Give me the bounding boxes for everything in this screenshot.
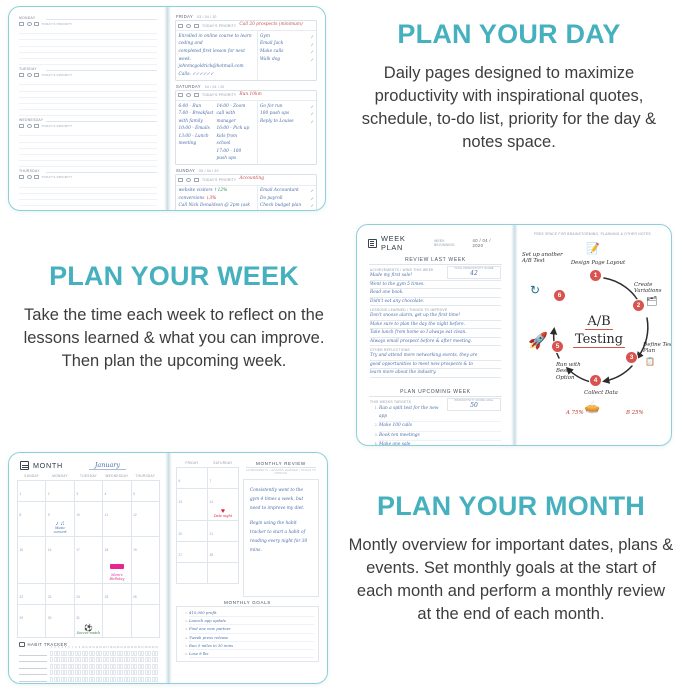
daily-date-slot[interactable] (46, 17, 157, 20)
weekday-header: TUESDAY (74, 473, 102, 481)
calendar-cell[interactable]: 3 (74, 481, 102, 502)
daily-priority-label: TODAY'S PRIORITY (202, 178, 236, 182)
daily-day-block: MONDAY TODAY'S PRIORITY (19, 14, 157, 65)
daily-entry-header: SATURDAY 04 / 04 / 20 (175, 84, 317, 90)
daily-priority-value: Accounting (239, 176, 264, 183)
daily-planner-spread: MONDAY TODAY'S PRIORITY TUESDAY (8, 6, 326, 211)
calendar-cell[interactable]: 23 (46, 583, 74, 604)
productivity-score-box[interactable]: TOTAL PRODUCTIVITY SCORE 42 (447, 266, 501, 279)
calendar-cell[interactable]: 27 (177, 541, 208, 562)
review-paragraph: Begin using the habit tracker to start a… (250, 519, 312, 555)
check-icon: ✓ (311, 104, 314, 109)
calendar-cell[interactable] (207, 562, 238, 583)
moon-icon (186, 24, 191, 28)
daily-writing-lines[interactable] (19, 130, 157, 167)
week-targets-list[interactable]: Run a split test for the new app Make 10… (370, 405, 501, 445)
goal-item: Launch app update (189, 617, 314, 625)
calendar-week-row: 6 7 (177, 468, 239, 489)
schedule-item: 7:00 - Breakfast with family (179, 110, 214, 125)
daily-entry-date: 03 / 04 / 20 (197, 15, 217, 19)
bed-icon (19, 175, 24, 179)
daily-day-label: MONDAY (19, 16, 43, 20)
pie-label-b: B 25% (626, 410, 644, 416)
calendar-cell[interactable]: 4 (103, 481, 131, 502)
calendar-week-row: 15 16 17 18 Mom's Birthday 19 (18, 536, 160, 583)
daily-todo-list[interactable]: Email Accountant✓ Do payroll✓ Check budg… (258, 186, 316, 210)
month-calendar-grid-right[interactable]: FRIDAY SATURDAY 6 7 13 (176, 460, 239, 584)
goal-item: Lose 8 lbs (189, 650, 314, 658)
monthly-goals-list: $10,000 profit Launch app update Find on… (181, 609, 314, 658)
daily-priority-label: TODAY'S PRIORITY (42, 124, 73, 128)
calendar-week-row: 20 21 (177, 520, 239, 541)
weekday-header: THURSDAY (131, 473, 159, 481)
achievement-line: Read one book. (370, 289, 501, 298)
daily-entry-saturday: TODAY'S PRIORITY Run 10km 6:00 - Run 7:0… (175, 90, 317, 166)
week-date: 40 / 04 / 2020 (473, 238, 503, 248)
checklist-icon: 📋 (645, 358, 655, 366)
goal-item: $10,000 profit (189, 609, 314, 617)
check-icon: ✓ (311, 34, 314, 39)
water-icon (34, 22, 39, 26)
calendar-cell[interactable]: 30 (46, 604, 74, 637)
habit-cells (50, 664, 158, 669)
calendar-cell[interactable]: 21 (207, 520, 238, 541)
week-review-body: TOTAL PRODUCTIVITY SCORE 42 ACHIEVEMENTS… (365, 268, 506, 381)
habit-row[interactable] (19, 670, 158, 675)
moon-icon (27, 73, 32, 77)
moon-icon (186, 178, 191, 182)
habit-name-field[interactable] (19, 657, 47, 662)
schedule-item: 10:00 - Emails (179, 125, 214, 133)
daily-calls-row: Calls: ✓✓✓✓✓✓ (179, 71, 255, 79)
schedule-item: 6:00 - Run (179, 103, 214, 111)
daily-note-line: johnmcgoldrick@hotmail.com (179, 63, 255, 71)
daily-icon-row: TODAY'S PRIORITY (19, 174, 157, 181)
month-name-value: January (89, 461, 126, 470)
daily-entry-date: 05 / 04 / 20 (199, 169, 219, 173)
node-3: 3 (626, 352, 637, 363)
daily-todo-list[interactable]: Gym✓ Email Jack✓ Make calls✓ Walk dog✓ (258, 31, 316, 79)
monthly-review-subtitle: ACHIEVEMENTS / LESSONS LEARNED / THINGS … (243, 469, 319, 475)
metric-row: website visitors ↑12% (179, 187, 255, 195)
score-goal-box[interactable]: PRODUCTIVITY SCORE GOAL 50 (447, 398, 501, 411)
calendar-cell[interactable]: 11 (103, 502, 131, 537)
calendar-cell[interactable]: 20 (177, 520, 208, 541)
schedule-item: 17:00 - 100 push ups (217, 148, 252, 163)
calendar-cell[interactable]: 31 ⚽ Soccer match (74, 604, 102, 637)
gift-icon (110, 564, 124, 569)
check-icon: ✓ (311, 203, 314, 208)
calendar-week-row: 29 30 31 ⚽ Soccer match (18, 604, 160, 637)
daily-date-slot[interactable] (46, 119, 157, 122)
todo-item: Go for run (260, 103, 283, 111)
habit-name-field[interactable] (19, 664, 47, 669)
water-icon (194, 178, 199, 182)
calendar-cell[interactable]: 9 ♪ ♫ Music concert (46, 502, 74, 537)
node-5: 5 (552, 341, 563, 352)
habit-row[interactable] (19, 657, 158, 662)
monthly-review-title: MONTHLY REVIEW (246, 461, 316, 468)
calendar-cell[interactable]: 18 Mom's Birthday (103, 536, 131, 583)
node-label-6: Set up another A/B Test (522, 252, 570, 265)
calendar-cell[interactable]: 19 (131, 536, 159, 583)
month-calendar-grid[interactable]: SUNDAY MONDAY TUESDAY WEDNESDAY THURSDAY… (17, 473, 160, 638)
document-pen-icon: 📝 (586, 244, 600, 255)
habit-row[interactable] (19, 651, 158, 656)
free-space-label: FREE SPACE FOR BRAINSTORMING, PLANNING &… (522, 232, 663, 236)
month-planner-spread: MONTH January SUNDAY MONDAY TUESDAY WEDN… (8, 452, 328, 684)
water-icon (34, 124, 39, 128)
bed-icon (19, 73, 24, 77)
daily-day-block: THURSDAY TODAY'S PRIORITY (19, 167, 157, 210)
feature-block-month: PLAN YOUR MONTH Montly overview for impo… (348, 492, 674, 625)
bed-icon (178, 24, 183, 28)
water-icon (194, 24, 199, 28)
month-right-page: FRIDAY SATURDAY 6 7 13 (168, 453, 327, 683)
monthly-goals-box[interactable]: $10,000 profit Launch app update Find on… (176, 606, 319, 662)
monthly-goals-title: MONTHLY GOALS (176, 597, 319, 606)
month-title: MONTH (33, 461, 63, 470)
metric-label: conversions (179, 196, 205, 201)
daily-notes-area[interactable]: Enrolled in online course to learn codin… (176, 31, 258, 79)
feature-body-week: Take the time each week to reflect on th… (6, 304, 342, 372)
check-icon: ✓ (311, 119, 314, 124)
moon-icon (27, 175, 32, 179)
feature-title-week: PLAN YOUR WEEK (6, 262, 342, 290)
monthly-review-box[interactable]: Consistently went to the gym 4 times a w… (243, 479, 319, 597)
reflection-line: Try and attend more networking events, t… (370, 352, 501, 361)
daily-entry-day: SATURDAY (176, 84, 201, 89)
bed-icon (19, 22, 24, 26)
weekday-header: MONDAY (46, 473, 74, 481)
daily-day-label: TUESDAY (19, 67, 43, 71)
week-planner-spread: WEEK PLAN WEEK BEGINNING 40 / 04 / 2020 … (356, 224, 672, 446)
week-left-page: WEEK PLAN WEEK BEGINNING 40 / 04 / 2020 … (357, 225, 514, 445)
todo-item: Reply to Louise (260, 118, 294, 126)
calendar-week-row: 8 9 ♪ ♫ Music concert 10 11 12 (18, 502, 160, 537)
pie-label-a: A 75% (566, 410, 584, 416)
calendar-event: Soccer match (76, 632, 100, 636)
habit-name-field[interactable] (19, 651, 47, 656)
week-plan-logo-icon (368, 239, 377, 248)
daily-entry-friday: TODAY'S PRIORITY Call 20 prospects (mini… (175, 20, 317, 81)
feature-block-day: PLAN YOUR DAY Daily pages designed to ma… (344, 20, 674, 153)
daily-priority-value: Run 10km (239, 92, 261, 99)
month-header: MONTH January (17, 460, 160, 473)
check-icon: ✓ (311, 49, 314, 54)
daily-right-page: FRIDAY 03 / 04 / 20 TODAY'S PRIORITY Cal… (167, 7, 325, 210)
calendar-event: Date night (209, 515, 236, 519)
reflection-line: learn more about the industry. (370, 369, 501, 378)
daily-date-slot[interactable] (46, 170, 157, 173)
schedule-item: 16:00 - Pick up kids from school (217, 125, 252, 148)
target-item: Make 100 calls (379, 422, 501, 431)
week-beginning-label: WEEK BEGINNING (434, 239, 466, 247)
daily-writing-lines[interactable] (19, 79, 157, 116)
calendar-cell[interactable]: 14 ♥ Date night (207, 489, 238, 521)
calendar-cell[interactable]: 10 (74, 502, 102, 537)
calendar-cell[interactable]: 15 (18, 536, 46, 583)
calendar-cell[interactable]: 8 (18, 502, 46, 537)
score-value: 42 (449, 270, 499, 277)
lesson-line: Take lunch from home so I always eat cle… (370, 329, 501, 338)
daily-todo-list[interactable]: Go for run✓ 100 push ups✓ Reply to Louis… (258, 101, 316, 164)
daily-writing-lines[interactable] (19, 181, 157, 210)
achievement-line: Went to the gym 5 times. (370, 281, 501, 290)
habit-day-numbers: 1234567891011121314151617181920212223242… (19, 647, 158, 649)
review-paragraph: Consistently went to the gym 4 times a w… (250, 486, 312, 513)
calendar-week-row: 22 23 24 25 26 (18, 583, 160, 604)
calendar-cell[interactable]: 22 (18, 583, 46, 604)
ab-variation-cards-icon: 🗂 (646, 297, 657, 306)
schedule-item: 14:00 - Zoom call with manager (217, 103, 252, 126)
weekday-header: FRIDAY (177, 460, 208, 468)
daily-priority-label: TODAY'S PRIORITY (202, 93, 236, 97)
calendar-cell[interactable]: 7 (207, 468, 238, 489)
metric-label: website visitors (179, 188, 213, 193)
calendar-cell[interactable]: 17 (74, 536, 102, 583)
daily-day-block: TUESDAY TODAY'S PRIORITY (19, 65, 157, 116)
calendar-cell[interactable] (131, 604, 159, 637)
calendar-cell[interactable]: 28 (207, 541, 238, 562)
calendar-week-row: 13 14 ♥ Date night (177, 489, 239, 521)
bed-icon (178, 178, 183, 182)
calendar-cell[interactable]: 6 (177, 468, 208, 489)
calendar-cell[interactable]: 5 (131, 481, 159, 502)
node-label-2: Create Variations (634, 282, 671, 295)
daily-priority-label: TODAY'S PRIORITY (42, 73, 73, 77)
infographic-sheet: PLAN YOUR DAY Daily pages designed to ma… (0, 0, 679, 692)
daily-icon-row: TODAY'S PRIORITY (19, 72, 157, 79)
lesson-line: Make sure to plan the day the night befo… (370, 321, 501, 330)
habit-cells (50, 657, 158, 662)
daily-date-slot[interactable] (46, 68, 157, 71)
calendar-week-row: 27 28 (177, 541, 239, 562)
daily-icon-row: TODAY'S PRIORITY (19, 21, 157, 28)
water-icon (34, 73, 39, 77)
pie-chart-icon: 🥧 (584, 400, 600, 413)
calendar-cell[interactable] (103, 604, 131, 637)
todo-item: Email Accountant (260, 187, 299, 195)
calendar-cell[interactable]: 26 (131, 583, 159, 604)
daily-note-line: Call Nick Donaldson @ 2pm (ask about ide… (179, 202, 255, 210)
node-label-5: Run with Best Option (556, 362, 586, 381)
habit-cells (50, 651, 158, 656)
calendar-cell[interactable]: 29 (18, 604, 46, 637)
habit-cells (50, 670, 158, 675)
target-item: Make one sale (379, 441, 501, 445)
lesson-line: Always email prospect before & after mee… (370, 338, 501, 347)
week-plan-body: PRODUCTIVITY SCORE GOAL 50 THIS WEEKS TA… (365, 400, 506, 445)
water-icon (194, 93, 199, 97)
calendar-cell[interactable]: 24 (74, 583, 102, 604)
ab-testing-diagram: A/B Testing 📝 Design Page Layout 1 Creat… (522, 238, 671, 416)
reflection-line: good opportunities to meet new prospects… (370, 361, 501, 370)
week-right-page: FREE SPACE FOR BRAINSTORMING, PLANNING &… (514, 225, 671, 445)
node-1: 1 (590, 270, 601, 281)
target-item: Book ten meetings (379, 432, 501, 441)
weekday-header: WEDNESDAY (103, 473, 131, 481)
feature-body-month: Montly overview for important dates, pla… (348, 534, 674, 625)
todo-item: Gym (260, 33, 270, 41)
daily-entry-sunday: TODAY'S PRIORITY Accounting website visi… (175, 174, 317, 210)
node-2: 2 (633, 300, 644, 311)
lesson-line: Don't snooze alarm, get up the first tim… (370, 312, 501, 321)
metric-value: 12% (218, 188, 228, 193)
daily-left-page: MONDAY TODAY'S PRIORITY TUESDAY (9, 7, 167, 210)
bed-icon (19, 124, 24, 128)
calendar-event: Mom's Birthday (105, 574, 129, 582)
daily-day-label: THURSDAY (19, 169, 43, 173)
daily-schedule-area[interactable]: 6:00 - Run 7:00 - Breakfast with family … (176, 101, 258, 164)
metric-value: 3% (209, 196, 216, 201)
habit-name-field[interactable] (19, 677, 47, 682)
plan-section-title: PLAN UPCOMING WEEK (369, 387, 502, 397)
daily-note-line: Enrolled in online course to learn codin… (179, 33, 255, 48)
feature-title-day: PLAN YOUR DAY (344, 20, 674, 48)
calendar-cell[interactable]: 1 (18, 481, 46, 502)
calendar-cell[interactable]: 16 (46, 536, 74, 583)
moon-icon (27, 22, 32, 26)
calendar-cell[interactable]: 13 (177, 489, 208, 521)
metric-row: conversions ↓3% (179, 195, 255, 203)
daily-priority-label: TODAY'S PRIORITY (42, 175, 73, 179)
check-icon: ✓ (311, 42, 314, 47)
week-plan-title: WEEK PLAN (381, 234, 430, 252)
habit-check-icon (19, 642, 25, 648)
rocket-icon: 🚀 (528, 334, 548, 350)
calendar-event: Music concert (48, 527, 72, 535)
node-4: 4 (590, 375, 601, 386)
node-6: 6 (554, 290, 565, 301)
week-plan-header: WEEK PLAN WEEK BEGINNING 40 / 04 / 2020 (365, 232, 506, 255)
habit-cells (50, 677, 158, 682)
check-icon: ✓ (311, 188, 314, 193)
bed-icon (178, 93, 183, 97)
daily-day-block: WEDNESDAY TODAY'S PRIORITY (19, 116, 157, 167)
moon-icon (27, 124, 32, 128)
todo-item: Walk dog (260, 56, 280, 64)
goal-item: Find one new partner (189, 625, 314, 633)
calendar-cell[interactable]: 25 (103, 583, 131, 604)
daily-entry-day: FRIDAY (176, 14, 193, 19)
todo-item: 100 push ups (260, 110, 289, 118)
refresh-loop-icon: ↻ (530, 284, 540, 296)
water-icon (34, 175, 39, 179)
habit-name-field[interactable] (19, 670, 47, 675)
daily-day-label: WEDNESDAY (19, 118, 43, 122)
todo-item: Make calls (260, 48, 283, 56)
daily-icon-row: TODAY'S PRIORITY (19, 123, 157, 130)
daily-entry-day: SUNDAY (176, 168, 195, 173)
daily-writing-lines[interactable] (19, 28, 157, 65)
goal-item: Run 5 miles in 30 mins (189, 642, 314, 650)
todo-item: Email Jack (260, 40, 283, 48)
calendar-cell[interactable]: 2 (46, 481, 74, 502)
node-label-3: Define Test Plan (643, 342, 671, 355)
ab-title-line1: A/B (585, 315, 612, 330)
daily-priority-label: TODAY'S PRIORITY (202, 24, 236, 28)
todo-item: Check budget plan (260, 202, 301, 210)
node-label-4: Collect Data (578, 390, 624, 396)
todo-item: Do payroll (260, 195, 283, 203)
feature-body-day: Daily pages designed to maximize product… (344, 62, 674, 153)
schedule-col-left: 6:00 - Run 7:00 - Breakfast with family … (179, 103, 217, 163)
ab-title-line2: Testing (573, 333, 625, 348)
moon-icon (186, 93, 191, 97)
review-section-title: REVIEW LAST WEEK (369, 255, 502, 265)
calendar-cell[interactable] (177, 562, 208, 583)
calendar-week-row: 1 2 3 4 5 (18, 481, 160, 502)
daily-entry-date: 04 / 04 / 20 (205, 85, 225, 89)
ab-testing-title: A/B Testing (573, 312, 625, 348)
goal-item: Tweak press release (189, 634, 314, 642)
calendar-cell[interactable]: 12 (131, 502, 159, 537)
daily-priority-value: Call 20 prospects (minimum) (239, 22, 302, 29)
weekday-header: SATURDAY (207, 460, 238, 468)
daily-priority-label: TODAY'S PRIORITY (42, 22, 73, 26)
schedule-item: 13:00 - Lunch meeting (179, 133, 214, 148)
check-icon: ✓ (311, 57, 314, 62)
habit-tracker-title: HABIT TRACKER (28, 642, 68, 647)
achievement-line: Didn't eat any chocolate. (370, 298, 501, 307)
habit-row[interactable] (19, 677, 158, 682)
feature-title-month: PLAN YOUR MONTH (348, 492, 674, 520)
score-goal-value: 50 (449, 402, 499, 409)
calendar-week-row (177, 562, 239, 583)
calendar-icon (20, 461, 29, 470)
month-left-page: MONTH January SUNDAY MONDAY TUESDAY WEDN… (9, 453, 168, 683)
daily-note-line: completed first lesson for next week. (179, 48, 255, 63)
habit-tracker-section: HABIT TRACKER 12345678910111213141516171… (17, 638, 160, 682)
habit-row[interactable] (19, 664, 158, 669)
node-label-1: Design Page Layout (560, 260, 636, 266)
schedule-col-right: 14:00 - Zoom call with manager 16:00 - P… (217, 103, 255, 163)
check-icon: ✓ (311, 196, 314, 201)
weekday-header: SUNDAY (18, 473, 46, 481)
check-icon: ✓ (311, 111, 314, 116)
feature-block-week: PLAN YOUR WEEK Take the time each week t… (6, 262, 342, 373)
daily-metrics-area[interactable]: website visitors ↑12% conversions ↓3% Ca… (176, 186, 258, 210)
